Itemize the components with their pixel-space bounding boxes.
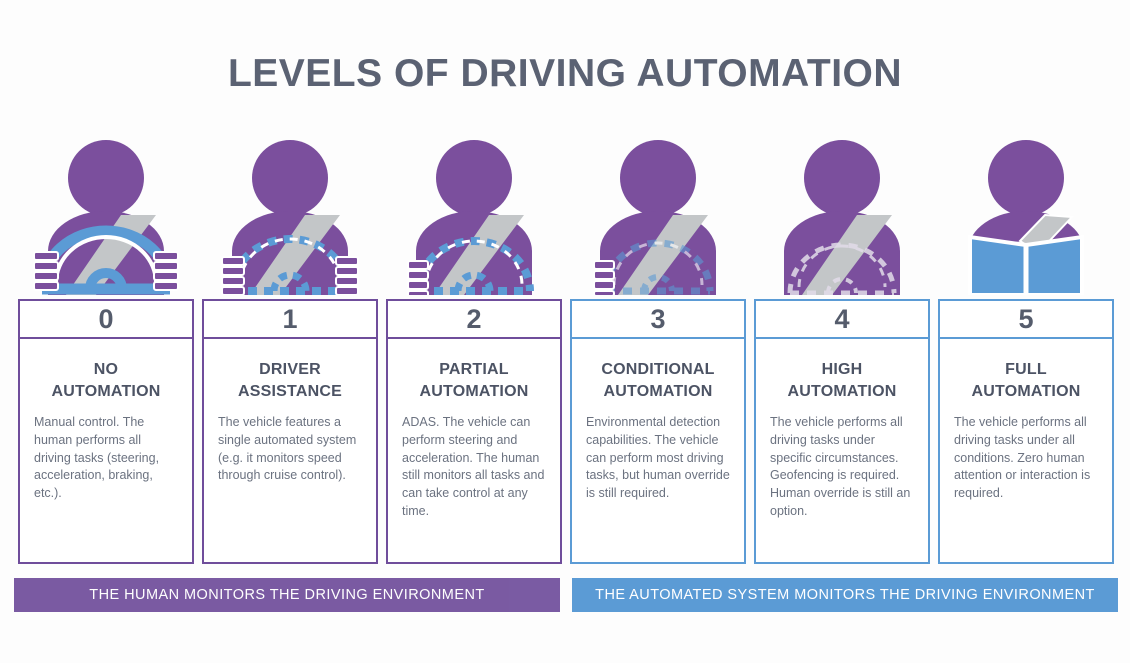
level-title-line1-5: FULL <box>954 359 1098 381</box>
level-body-1: DRIVER ASSISTANCE The vehicle features a… <box>202 339 378 564</box>
level-title-1: DRIVER ASSISTANCE <box>218 359 362 402</box>
level-description-2: ADAS. The vehicle can perform steering a… <box>402 414 546 521</box>
level-title-line1-4: HIGH <box>770 359 914 381</box>
level-title-line2-1: ASSISTANCE <box>218 381 362 403</box>
level-description-3: Environmental detection capabilities. Th… <box>586 414 730 503</box>
level-title-line2-5: AUTOMATION <box>954 381 1098 403</box>
human-monitors-banner: THE HUMAN MONITORS THE DRIVING ENVIRONME… <box>14 578 560 612</box>
level-number-2: 2 <box>386 299 562 339</box>
icon-strip <box>14 133 1118 295</box>
level-number-1: 1 <box>202 299 378 339</box>
level-title-0: NO AUTOMATION <box>34 359 178 402</box>
level-body-3: CONDITIONAL AUTOMATION Environmental det… <box>570 339 746 564</box>
icon-cell-level-5 <box>934 133 1118 295</box>
level-title-line1-2: PARTIAL <box>402 359 546 381</box>
level-description-1: The vehicle features a single automated … <box>218 414 362 485</box>
page-title: LEVELS OF DRIVING AUTOMATION <box>0 52 1130 96</box>
icon-cell-level-0 <box>14 133 198 295</box>
level-number-4: 4 <box>754 299 930 339</box>
banner-gap <box>560 578 572 612</box>
level-title-3: CONDITIONAL AUTOMATION <box>586 359 730 402</box>
icon-cell-level-2 <box>382 133 566 295</box>
icon-cell-level-1 <box>198 133 382 295</box>
level-number-0: 0 <box>18 299 194 339</box>
level-title-2: PARTIAL AUTOMATION <box>402 359 546 402</box>
level-body-0: NO AUTOMATION Manual control. The human … <box>18 339 194 564</box>
level-description-4: The vehicle performs all driving tasks u… <box>770 414 914 521</box>
level-title-5: FULL AUTOMATION <box>954 359 1098 402</box>
driver-hands-on-dashed-wheel-icon <box>210 133 370 295</box>
level-body-5: FULL AUTOMATION The vehicle performs all… <box>938 339 1114 564</box>
level-card-5[interactable]: 5 FULL AUTOMATION The vehicle performs a… <box>934 299 1118 564</box>
level-card-1[interactable]: 1 DRIVER ASSISTANCE The vehicle features… <box>198 299 382 564</box>
level-title-line1-1: DRIVER <box>218 359 362 381</box>
level-body-2: PARTIAL AUTOMATION ADAS. The vehicle can… <box>386 339 562 564</box>
level-number-3: 3 <box>570 299 746 339</box>
level-title-line1-0: NO <box>34 359 178 381</box>
level-title-line2-0: AUTOMATION <box>34 381 178 403</box>
automated-system-monitors-banner: THE AUTOMATED SYSTEM MONITORS THE DRIVIN… <box>572 578 1118 612</box>
level-title-4: HIGH AUTOMATION <box>770 359 914 402</box>
infographic-root: LEVELS OF DRIVING AUTOMATION <box>0 0 1130 663</box>
level-title-line2-3: AUTOMATION <box>586 381 730 403</box>
driver-hands-on-solid-wheel-icon <box>26 133 186 295</box>
levels-card-row: 0 NO AUTOMATION Manual control. The huma… <box>14 299 1118 564</box>
level-number-5: 5 <box>938 299 1114 339</box>
icon-cell-level-3 <box>566 133 750 295</box>
level-card-3[interactable]: 3 CONDITIONAL AUTOMATION Environmental d… <box>566 299 750 564</box>
driver-one-hand-dashed-wheel-icon <box>394 133 554 295</box>
level-title-line2-4: AUTOMATION <box>770 381 914 403</box>
monitor-banner-row: THE HUMAN MONITORS THE DRIVING ENVIRONME… <box>14 578 1118 612</box>
level-card-0[interactable]: 0 NO AUTOMATION Manual control. The huma… <box>14 299 198 564</box>
level-body-4: HIGH AUTOMATION The vehicle performs all… <box>754 339 930 564</box>
icon-cell-level-4 <box>750 133 934 295</box>
level-title-line2-2: AUTOMATION <box>402 381 546 403</box>
passenger-reading-book-icon <box>946 133 1106 295</box>
driver-no-hands-ghost-wheel-icon <box>762 133 922 295</box>
level-card-2[interactable]: 2 PARTIAL AUTOMATION ADAS. The vehicle c… <box>382 299 566 564</box>
level-title-line1-3: CONDITIONAL <box>586 359 730 381</box>
level-card-4[interactable]: 4 HIGH AUTOMATION The vehicle performs a… <box>750 299 934 564</box>
driver-faded-dashed-wheel-icon <box>578 133 738 295</box>
level-description-5: The vehicle performs all driving tasks u… <box>954 414 1098 503</box>
level-description-0: Manual control. The human performs all d… <box>34 414 178 503</box>
